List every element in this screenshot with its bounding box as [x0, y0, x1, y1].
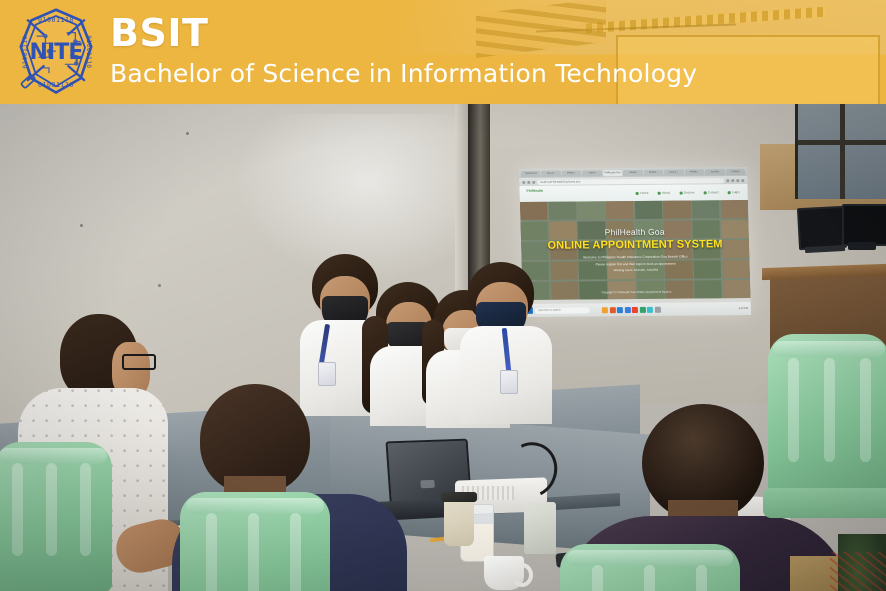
chair-slot — [12, 463, 23, 556]
profile-icon[interactable] — [736, 179, 739, 182]
chair-rim — [567, 550, 733, 566]
nav-about[interactable]: About — [658, 191, 671, 195]
projected-screen: Dashboard Goa A... PhilHe... Admin PhilH… — [519, 167, 751, 317]
nav-doctors[interactable]: Doctors — [679, 190, 694, 194]
chair-slot — [696, 565, 707, 591]
window — [795, 104, 886, 199]
nite-logo: 01001110 01001110 01001110 01001110 NITE — [12, 6, 100, 98]
nav-home[interactable]: Home — [636, 191, 649, 195]
monitor-right — [842, 204, 886, 246]
wall-speck — [158, 284, 161, 287]
doctor-icon — [679, 191, 682, 194]
powerpoint-icon[interactable] — [632, 306, 638, 312]
svg-text:NITE: NITE — [29, 40, 82, 65]
nav-label: Contact — [708, 190, 719, 194]
page-title: BSIT — [110, 14, 697, 52]
monobloc-chair-back[interactable] — [768, 334, 886, 502]
id-card — [318, 362, 336, 386]
menu-icon[interactable] — [741, 179, 744, 182]
chair-rim — [0, 448, 107, 464]
hero-section: PhilHealth Goa ONLINE APPOINTMENT SYSTEM… — [520, 200, 751, 300]
chair-slot — [80, 463, 91, 556]
media-icon[interactable] — [647, 306, 653, 312]
hero-text-block: PhilHealth Goa ONLINE APPOINTMENT SYSTEM… — [521, 226, 750, 272]
chair-seat — [763, 488, 886, 518]
monobloc-chair-right[interactable] — [560, 544, 740, 591]
taskbar-app-icons — [602, 306, 661, 313]
site-brand[interactable]: PhilHealth — [526, 189, 543, 193]
chair-slot — [46, 463, 57, 556]
id-card — [500, 370, 518, 394]
browser-tab[interactable]: Admin — [582, 170, 602, 176]
back-icon[interactable] — [522, 180, 525, 183]
nav-label: Doctors — [684, 190, 695, 194]
home-icon — [636, 191, 639, 194]
monobloc-chair-left[interactable] — [0, 442, 112, 591]
page-subtitle: Bachelor of Science in Information Techn… — [110, 61, 697, 86]
browser-tab[interactable]: Patient — [726, 169, 746, 175]
screenshot-root: 01001110 01001110 01001110 01001110 NITE… — [0, 0, 886, 591]
browser-tab[interactable]: PhilHe... — [644, 169, 664, 175]
browser-tab[interactable]: PhilHe... — [562, 170, 582, 176]
monitor-left — [797, 206, 847, 250]
svg-text:01001110: 01001110 — [85, 35, 92, 68]
monobloc-chair-center[interactable] — [180, 492, 330, 591]
tumbler — [524, 502, 556, 554]
hero-subheading: ONLINE APPOINTMENT SYSTEM — [521, 238, 749, 252]
chair-slot — [824, 358, 835, 462]
chair-slot — [248, 513, 259, 591]
browser-tab[interactable]: Goa A... — [541, 170, 561, 176]
svg-text:01001110: 01001110 — [38, 16, 74, 24]
chair-slot — [860, 358, 871, 462]
svg-text:01001110: 01001110 — [38, 81, 74, 89]
browser-tab[interactable]: Patient — [623, 169, 643, 175]
chair-slot — [206, 513, 217, 591]
info-icon — [658, 191, 661, 194]
user-icon — [728, 191, 731, 194]
browser-tab[interactable]: PhilHe... — [685, 169, 705, 175]
hero-tagline: Welcome to Philippine Health Insurance C… — [521, 254, 749, 260]
folder-icon[interactable] — [654, 306, 660, 312]
coffee-cup-lid — [441, 492, 477, 502]
nav-contact[interactable]: Contact — [703, 190, 718, 194]
nav-label: Login — [732, 190, 740, 194]
browser-tab-active[interactable]: PhilHealth Goa — [603, 170, 623, 176]
phone-icon — [703, 191, 706, 194]
laptop-logo — [420, 480, 435, 488]
excel-icon[interactable] — [639, 306, 645, 312]
banner-text-block: BSIT Bachelor of Science in Information … — [110, 14, 697, 86]
monitor-stand — [848, 242, 876, 250]
wall-speck — [80, 224, 83, 227]
chair-rim — [773, 341, 885, 357]
nav-label: About — [662, 191, 670, 195]
chair-slot — [644, 565, 655, 591]
bsit-banner: 01001110 01001110 01001110 01001110 NITE… — [0, 0, 886, 104]
extensions-icon[interactable] — [731, 179, 734, 182]
windows-taskbar: Type here to search 3:42 PM — [523, 302, 751, 317]
browser-tab[interactable]: Goa A... — [664, 169, 684, 175]
classroom-photo: Dashboard Goa A... PhilHe... Admin PhilH… — [0, 104, 886, 591]
nav-login[interactable]: Login — [728, 190, 740, 194]
eyeglasses-worn — [122, 354, 156, 370]
address-bar[interactable]: localhost/PhilHealthGoa/home.php — [537, 178, 724, 185]
chair-slot — [290, 513, 301, 591]
nav-label: Home — [640, 191, 648, 195]
svg-text:01001110: 01001110 — [22, 35, 29, 68]
white-mug — [484, 556, 524, 590]
reload-icon[interactable] — [532, 180, 535, 183]
wall-speck — [186, 132, 189, 135]
browser-tab[interactable]: Dashboard — [521, 170, 541, 176]
chair-slot — [592, 565, 603, 591]
browser-tab[interactable]: Archive — [705, 169, 725, 175]
file-explorer-icon[interactable] — [602, 307, 608, 313]
hero-heading: PhilHealth Goa — [521, 226, 749, 238]
student-4 — [460, 262, 552, 422]
coffee-cup — [444, 498, 474, 546]
taskbar-clock[interactable]: 3:42 PM — [739, 307, 748, 310]
edge-icon[interactable] — [617, 307, 623, 313]
chrome-icon[interactable] — [624, 307, 630, 313]
star-icon[interactable] — [726, 179, 729, 182]
forward-icon[interactable] — [527, 180, 530, 183]
firefox-icon[interactable] — [609, 307, 615, 313]
chair-slot — [788, 358, 799, 462]
chair-rim — [186, 498, 324, 514]
cable-bundle — [830, 552, 886, 591]
